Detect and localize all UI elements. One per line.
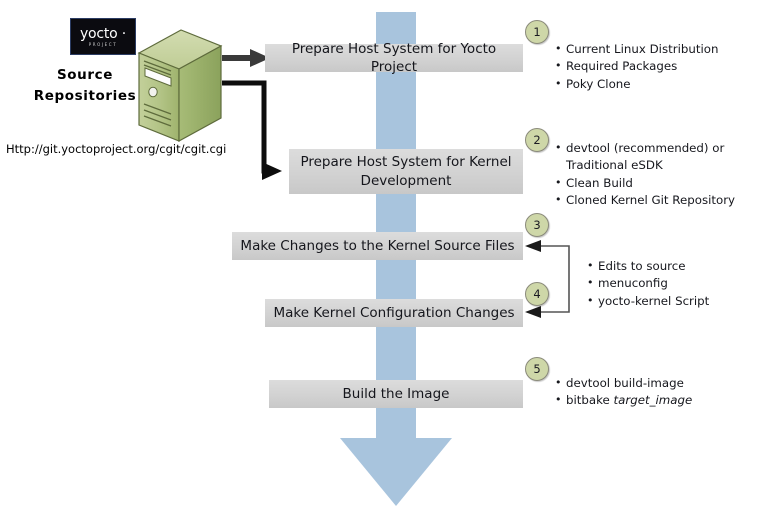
step-number-2: 2 [525,128,549,152]
notes-steps-3-and-4: Edits to source menuconfig yocto-kernel … [585,258,709,310]
process-box-step-2[interactable]: Prepare Host System for Kernel Developme… [289,149,523,194]
process-box-step-5[interactable]: Build the Image [269,380,523,408]
note-item: menuconfig [598,275,709,292]
source-label-line-2: Repositories [30,86,140,107]
note-item: Cloned Kernel Git Repository [566,192,735,209]
note-item: Poky Clone [566,76,718,93]
note-item: Current Linux Distribution [566,41,718,58]
step-number-4: 4 [525,282,549,306]
diagram-canvas: yocto · PROJECT Source Repositories Http… [0,0,769,517]
note-item: devtool build-image [566,375,692,392]
notes-step-2: devtool (recommended) or Traditional eSD… [553,140,735,210]
step-number-5: 5 [525,357,549,381]
process-box-step-1[interactable]: Prepare Host System for Yocto Project [265,44,523,72]
note-item: devtool (recommended) or Traditional eSD… [566,140,726,175]
notes-step-1: Current Linux Distribution Required Pack… [553,41,718,93]
process-box-step-4[interactable]: Make Kernel Configuration Changes [265,299,523,327]
note-item: Edits to source [598,258,709,275]
flow-arrowhead-icon [340,438,452,506]
note-item: yocto-kernel Script [598,293,709,310]
connector-server-to-step2 [222,78,282,182]
notes-step-5: devtool build-image bitbake target_image [553,375,692,410]
yocto-project-logo: yocto · PROJECT [70,18,136,55]
logo-subtitle: PROJECT [89,43,117,47]
note-item: bitbake target_image [566,392,692,409]
note-variable: target_image [614,393,693,407]
process-box-step-3[interactable]: Make Changes to the Kernel Source Files [232,232,523,260]
source-repositories-label: Source Repositories [30,65,140,107]
source-label-line-1: Source [30,65,140,86]
step-number-3: 3 [525,213,549,237]
note-command: bitbake [566,393,614,407]
note-item: Required Packages [566,58,718,75]
logo-wordmark: yocto · [80,27,126,41]
note-item: Clean Build [566,175,735,192]
connector-bracket-step3-step4 [523,236,581,320]
server-tower-icon [133,28,225,146]
step-number-1: 1 [525,20,549,44]
